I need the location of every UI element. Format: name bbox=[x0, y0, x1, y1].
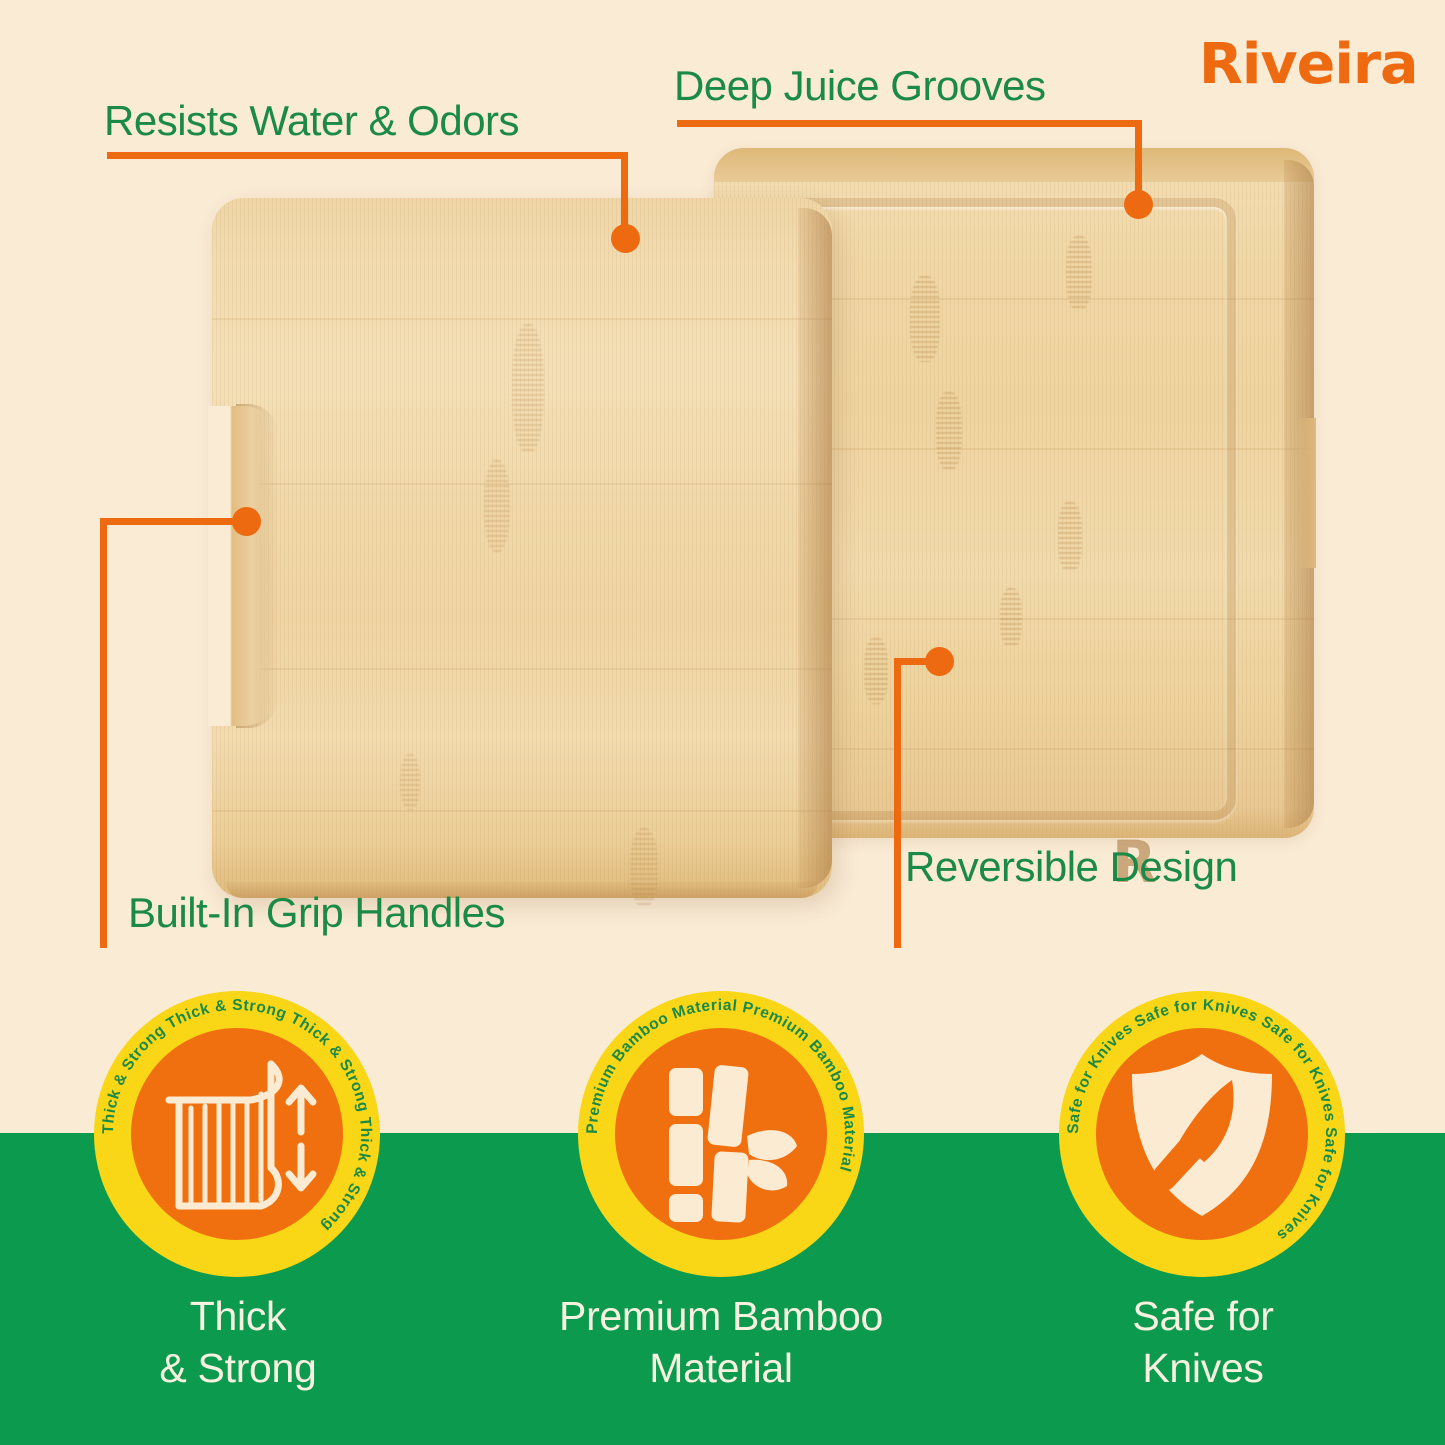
shield-knife-icon bbox=[1096, 1028, 1308, 1240]
board-grain-knot bbox=[512, 324, 544, 454]
board-grain-knot bbox=[1000, 588, 1022, 648]
board-front-surface bbox=[212, 198, 832, 898]
callout-label-deep-juice-grooves: Deep Juice Grooves bbox=[674, 62, 1046, 110]
callout-dot-reversible-design bbox=[925, 647, 954, 676]
caption-line: Premium Bamboo bbox=[521, 1290, 921, 1342]
grip-handle-cutout bbox=[208, 406, 274, 726]
cutting-board-front bbox=[212, 198, 832, 898]
product-infographic: Riveira R Resists Water & Odor bbox=[0, 0, 1445, 1445]
caption-line: Thick bbox=[60, 1290, 416, 1342]
callout-dot-deep-juice-grooves bbox=[1124, 190, 1153, 219]
board-grain-knot bbox=[400, 754, 420, 810]
board-grain-knot bbox=[864, 638, 888, 704]
feature-badge-safe-for-knives: Safe for Knives Safe for Knives Safe for… bbox=[1059, 991, 1345, 1277]
board-grain-knot bbox=[1066, 236, 1092, 310]
caption-line: Knives bbox=[1015, 1342, 1391, 1394]
callout-connector-line bbox=[100, 518, 246, 525]
board-grain-seam bbox=[212, 483, 832, 485]
badge-caption-premium-bamboo: Premium Bamboo Material bbox=[521, 1290, 921, 1395]
bamboo-stalk-icon bbox=[615, 1028, 827, 1240]
callout-label-reversible-design: Reversible Design bbox=[905, 843, 1237, 891]
board-grain-knot bbox=[910, 276, 940, 362]
board-grain-seam bbox=[212, 668, 832, 670]
board-back-grip-notch bbox=[1290, 418, 1316, 568]
board-grain-seam bbox=[212, 318, 832, 320]
juice-groove bbox=[772, 198, 1236, 820]
feature-badge-thick-strong: Thick & Strong Thick & Strong Thick & St… bbox=[94, 991, 380, 1277]
board-grain-knot bbox=[1058, 502, 1082, 572]
board-grain-knot bbox=[484, 460, 510, 552]
caption-line: Material bbox=[521, 1342, 921, 1394]
caption-line: Safe for bbox=[1015, 1290, 1391, 1342]
callout-label-built-in-grip-handles: Built-In Grip Handles bbox=[128, 889, 505, 937]
callout-label-resists-water-odors: Resists Water & Odors bbox=[104, 97, 519, 145]
board-thickness-icon bbox=[131, 1028, 343, 1240]
board-grain-knot bbox=[936, 392, 962, 470]
callout-connector-line bbox=[107, 152, 628, 159]
badge-caption-safe-for-knives: Safe for Knives bbox=[1015, 1290, 1391, 1395]
brand-logo: Riveira bbox=[1198, 32, 1417, 97]
caption-line: & Strong bbox=[60, 1342, 416, 1394]
badge-caption-thick-strong: Thick & Strong bbox=[60, 1290, 416, 1395]
callout-connector-line bbox=[677, 120, 1142, 127]
feature-badge-premium-bamboo: Premium Bamboo Material Premium Bamboo M… bbox=[578, 991, 864, 1277]
board-grain-seam bbox=[212, 810, 832, 812]
callout-connector-line bbox=[100, 518, 107, 948]
board-back-top-bevel bbox=[714, 148, 1314, 182]
callout-connector-line bbox=[894, 658, 901, 948]
board-front-right-edge bbox=[798, 208, 832, 888]
callout-dot-built-in-grip-handles bbox=[232, 507, 261, 536]
callout-dot-resists-water-odors bbox=[611, 224, 640, 253]
